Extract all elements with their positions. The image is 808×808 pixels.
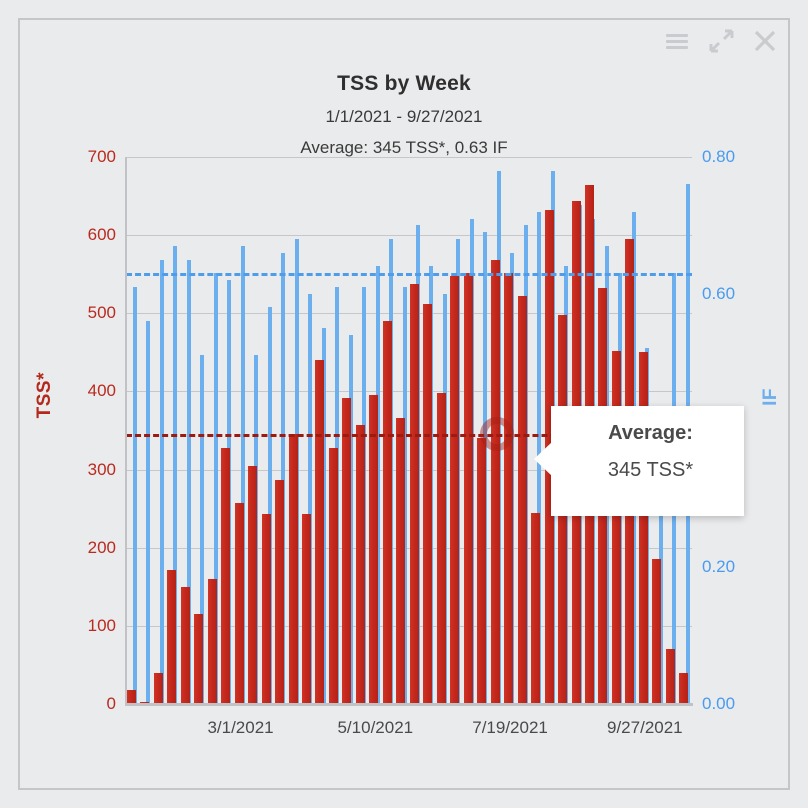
if-bar xyxy=(133,287,137,704)
tss-bar xyxy=(410,284,419,704)
tss-bar xyxy=(208,579,217,704)
tooltip-arrow xyxy=(534,442,552,476)
tss-bar xyxy=(167,570,176,704)
y-axis-left-ticks: 7006005004003002001000 xyxy=(20,157,116,704)
tss-bar xyxy=(450,276,459,704)
tss-bar xyxy=(612,351,621,704)
window-controls xyxy=(664,28,778,54)
y-axis-line xyxy=(125,157,127,704)
y-tick-label-left: 300 xyxy=(88,460,116,480)
y-tick-label-left: 200 xyxy=(88,538,116,558)
expand-icon[interactable] xyxy=(708,28,734,54)
y-tick-label-left: 100 xyxy=(88,616,116,636)
tss-bar xyxy=(652,559,661,704)
tss-bar xyxy=(369,395,378,704)
x-tick-label: 9/27/2021 xyxy=(607,718,683,738)
tss-bar xyxy=(423,304,432,704)
y-tick-label-left: 0 xyxy=(107,694,116,714)
y-tick-label-right: 0.20 xyxy=(702,557,735,577)
tss-bar xyxy=(356,425,365,704)
tss-bar xyxy=(396,418,405,704)
tss-bar xyxy=(666,649,675,704)
tss-bar xyxy=(127,690,136,704)
chart-title: TSS by Week xyxy=(20,72,788,96)
hover-marker xyxy=(480,417,514,451)
tooltip-value: 345 TSS* xyxy=(551,459,744,482)
chart-average-summary: Average: 345 TSS*, 0.63 IF xyxy=(20,138,788,158)
y-tick-label-right: 0.80 xyxy=(702,147,735,167)
tss-bar xyxy=(477,438,486,704)
menu-icon[interactable] xyxy=(664,28,690,54)
x-axis-line xyxy=(125,703,693,706)
gridline xyxy=(126,235,692,236)
tss-bar xyxy=(383,321,392,704)
tss-bar xyxy=(248,466,257,704)
x-tick-label: 5/10/2021 xyxy=(337,718,413,738)
tss-bar xyxy=(235,503,244,704)
tss-bar xyxy=(531,513,540,704)
close-icon[interactable] xyxy=(752,28,778,54)
tss-bar xyxy=(491,260,500,704)
gridline xyxy=(126,157,692,158)
tooltip-title: Average: xyxy=(551,422,744,445)
tss-bar xyxy=(315,360,324,704)
title-block: TSS by Week 1/1/2021 - 9/27/2021 Average… xyxy=(20,72,788,158)
tss-bar xyxy=(342,398,351,704)
x-axis-ticks: 3/1/20215/10/20217/19/20219/27/2021 xyxy=(126,718,692,748)
y-tick-label-left: 700 xyxy=(88,147,116,167)
tss-bar xyxy=(437,393,446,704)
tss-bar xyxy=(679,673,688,704)
tss-bar xyxy=(302,514,311,704)
tss-bar xyxy=(154,673,163,704)
tss-bar xyxy=(329,448,338,704)
tss-bar xyxy=(464,273,473,704)
tss-bar xyxy=(194,614,203,704)
y-tick-label-right: 0.60 xyxy=(702,284,735,304)
average-if-line xyxy=(126,273,692,276)
if-bar xyxy=(160,260,164,704)
x-tick-label: 3/1/2021 xyxy=(207,718,273,738)
y-tick-label-left: 600 xyxy=(88,225,116,245)
chart-date-range: 1/1/2021 - 9/27/2021 xyxy=(20,107,788,127)
y-tick-label-right: 0.00 xyxy=(702,694,735,714)
tooltip: Average: 345 TSS* xyxy=(551,406,744,516)
tss-bar xyxy=(518,296,527,704)
tss-bar xyxy=(181,587,190,704)
tss-bar xyxy=(504,273,513,704)
tss-bar xyxy=(262,514,271,704)
x-tick-label: 7/19/2021 xyxy=(472,718,548,738)
y-tick-label-left: 400 xyxy=(88,381,116,401)
tss-bar xyxy=(289,434,298,704)
menu-icon-bar xyxy=(666,40,688,43)
chart-widget: TSS by Week 1/1/2021 - 9/27/2021 Average… xyxy=(18,18,790,790)
if-bar xyxy=(146,321,150,704)
y-tick-label-left: 500 xyxy=(88,303,116,323)
tss-bar xyxy=(275,480,284,704)
menu-icon-bar xyxy=(666,34,688,37)
tss-bar xyxy=(221,448,230,704)
menu-icon-bar xyxy=(666,46,688,49)
